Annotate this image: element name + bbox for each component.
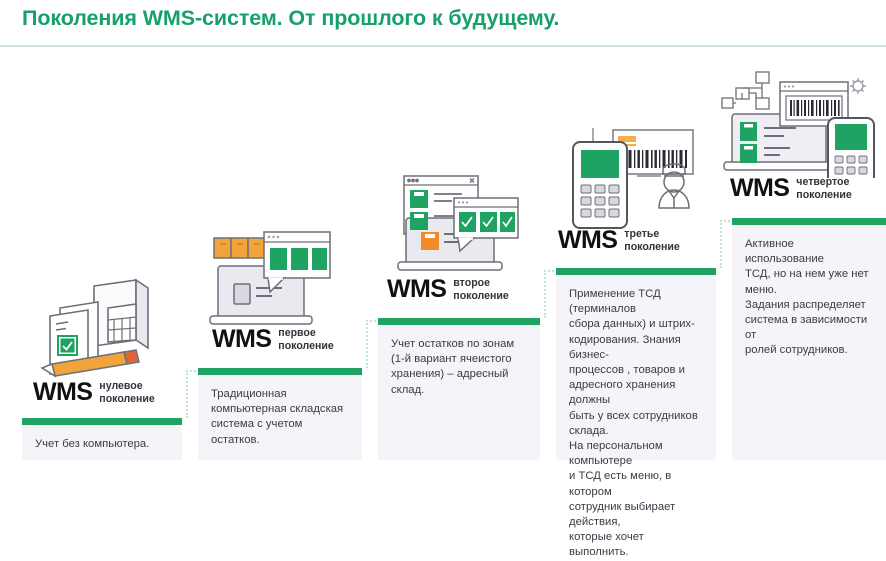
title-divider (0, 45, 886, 47)
wms-wordmark: WMS (33, 380, 92, 405)
wms-label-4: WMS четвертое поколение (730, 176, 852, 201)
generation-caption: нулевое поколение (99, 380, 155, 405)
wms-label-3: WMS третье поколение (558, 228, 680, 253)
accent-bar-0 (22, 418, 182, 425)
generation-caption: первое поколение (278, 327, 334, 352)
description-panel-4: Активное использование ТСД, но на нем уж… (732, 225, 886, 460)
laptop-checklist-window-icon (392, 172, 522, 287)
accent-bar-4 (732, 218, 886, 225)
description-panel-3: Применение ТСД (терминалов сбора данных)… (556, 275, 716, 460)
wms-wordmark: WMS (212, 327, 271, 352)
wms-wordmark: WMS (387, 277, 446, 302)
wms-wordmark: WMS (730, 176, 789, 201)
generation-caption: четвертое поколение (796, 176, 852, 201)
page-title: Поколения WMS-систем. От прошлого к буду… (22, 6, 559, 31)
generation-caption: третье поколение (624, 228, 680, 253)
laptop-flowchart-barcode-terminal-icon (718, 68, 878, 183)
slide-canvas: Поколения WMS-систем. От прошлого к буду… (0, 0, 886, 460)
warehouse-paper-pencil-icon (36, 278, 156, 388)
accent-bar-3 (556, 268, 716, 275)
description-panel-1: Традиционная компьютерная складская сист… (198, 375, 362, 460)
wms-label-0: WMS нулевое поколение (33, 380, 155, 405)
laptop-boxes-window-icon (208, 228, 333, 333)
wms-label-1: WMS первое поколение (212, 327, 334, 352)
generation-caption: второе поколение (453, 277, 509, 302)
wms-label-2: WMS второе поколение (387, 277, 509, 302)
description-panel-2: Учет остатков по зонам (1-й вариант ячеи… (378, 325, 540, 460)
accent-bar-2 (378, 318, 540, 325)
wms-wordmark: WMS (558, 228, 617, 253)
description-panel-0: Учет без компьютера. (22, 425, 182, 460)
accent-bar-1 (198, 368, 362, 375)
handheld-terminal-barcode-worker-icon (565, 128, 695, 238)
